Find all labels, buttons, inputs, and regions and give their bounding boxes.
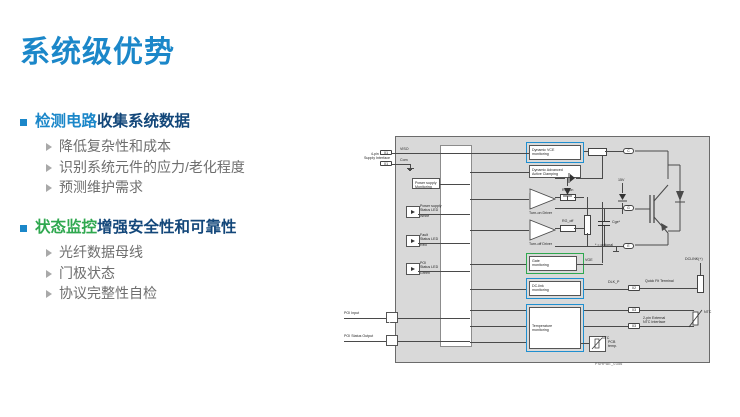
supply-15v-label: 15V [618, 178, 624, 182]
turn-on-driver-label: Turn-on Driver [529, 211, 552, 215]
dlk-p-label: DLK_P [608, 280, 619, 284]
fiber-output-label: POI Status Output [344, 334, 373, 338]
wire-viso [398, 153, 470, 154]
wire [602, 153, 603, 179]
wire [640, 310, 694, 311]
turn-off-driver-label: Turn-off Driver [529, 242, 552, 246]
bullet-heading-2: 状态监控增强安全性和可靠性 [20, 218, 340, 237]
triangle-bullet-icon [46, 143, 52, 151]
list-item: 门极状态 [46, 264, 340, 282]
square-bullet-icon [20, 119, 27, 126]
wire [418, 214, 470, 215]
igbt-symbol-icon [634, 145, 694, 255]
wire [344, 341, 386, 342]
wire [470, 342, 526, 343]
led-fault-label: Fault Status LED [420, 233, 438, 242]
sub-bullet-label: 预测维护需求 [59, 178, 143, 196]
wire [574, 228, 584, 229]
fiber-transmitter-icon [386, 335, 398, 346]
wire [604, 208, 605, 221]
triangle-bullet-icon [46, 249, 52, 257]
wire [470, 172, 529, 173]
wire [567, 178, 568, 186]
wire [587, 197, 588, 215]
resistor-gate-pulldown [584, 215, 591, 235]
terminal-c: C [623, 148, 634, 154]
sub-bullet-label: 协议完整性自检 [59, 284, 157, 302]
wire [470, 326, 526, 327]
ground-icon [613, 251, 619, 252]
wire [567, 196, 568, 200]
wire [470, 289, 526, 290]
wire [470, 310, 526, 311]
rail-label-viso: VISO [400, 147, 409, 151]
wire [440, 184, 470, 185]
led-power-supply-label: Power supply Status LED [420, 204, 442, 213]
square-bullet-icon [20, 225, 27, 232]
bullet-group-2: 状态监控增强安全性和可靠性 光纤数据母线 门极状态 协议完整性自检 [20, 218, 340, 302]
page-title: 系统级优势 [20, 38, 175, 68]
slide-root: 系统级优势 检测电路收集系统数据 降低复杂性和成本 识别系统元件的应力/老化程度… [0, 0, 740, 417]
block-dclink-monitoring: DC-link monitoring [529, 281, 581, 296]
sub-bullet-label: 门极状态 [59, 264, 115, 282]
sub-bullet-label: 光纤数据母线 [59, 243, 143, 261]
led-poi-status-icon [406, 263, 420, 275]
wire [584, 310, 628, 311]
terminal-g: G [623, 205, 634, 211]
dclink-resistor [697, 275, 704, 293]
turn-on-driver-amp-icon [529, 188, 557, 210]
wire-gate-bus [555, 208, 628, 209]
rg-off-label: RG_off [562, 219, 573, 223]
bullet-heading-1-part-a: 检测电路 [35, 113, 97, 130]
triangle-bullet-icon [46, 290, 52, 298]
bullet-heading-1: 检测电路收集系统数据 [20, 112, 340, 131]
connector-x2: X2 [628, 285, 640, 291]
turn-off-driver-amp-icon [529, 219, 557, 241]
bullet-column: 检测电路收集系统数据 降低复杂性和成本 识别系统元件的应力/老化程度 预测维护需… [20, 112, 340, 316]
wire [470, 230, 529, 231]
bullet-heading-2-part-b: 增强安全性和可靠性 [97, 219, 237, 236]
wire [470, 153, 529, 154]
gate-driver-block-diagram: 4-pin Power Supply Interface X1 X1 VISO … [340, 130, 740, 370]
resistor-vce [588, 148, 607, 156]
block-temperature-monitoring: Temperature monitoring [529, 307, 581, 349]
wire [555, 228, 560, 229]
block-gate-monitoring: Gate monitoring [529, 256, 577, 271]
block-power-supply-monitoring: Power supply Monitoring [412, 178, 440, 189]
vge-label: VGE [585, 258, 593, 262]
connector-x1-top: X1 [380, 150, 392, 155]
wire [581, 343, 589, 344]
diagram-watermark: PSHPAE_0356 [595, 362, 623, 366]
wire [398, 318, 470, 319]
wire-emitter-bus [555, 246, 628, 247]
list-item: 协议完整性自检 [46, 284, 340, 302]
ntc-interface-label: 2-pin External NTC Interface [643, 316, 665, 325]
sub-bullet-label: 降低复杂性和成本 [59, 137, 171, 155]
pcb-temp-label: PCB temp. [608, 340, 617, 349]
triangle-bullet-icon [46, 164, 52, 172]
led-poi-label: POI Status LED [420, 261, 438, 270]
wire [470, 264, 526, 265]
fiber-input-label: POI Input [344, 311, 359, 315]
wire [555, 197, 560, 198]
wire [640, 288, 702, 289]
wire [398, 341, 470, 342]
wire [470, 199, 529, 200]
sub-bullet-label: 识别系统元件的应力/老化程度 [59, 158, 245, 176]
led-fault-status-icon [406, 235, 420, 247]
resistor-rg-off [560, 225, 576, 232]
ground-icon [409, 170, 411, 171]
wire [584, 151, 588, 152]
triangle-bullet-icon [46, 184, 52, 192]
wire [584, 326, 628, 327]
triangle-bullet-icon [46, 270, 52, 278]
wire-dclink [584, 289, 628, 290]
bullet-heading-1-part-b: 收集系统数据 [97, 113, 190, 130]
wire [418, 243, 470, 244]
list-item: 光纤数据母线 [46, 243, 340, 261]
cge-label: Cge* [612, 220, 620, 224]
wire [555, 178, 565, 179]
bullet-heading-2-part-a: 状态监控 [35, 219, 97, 236]
bullet-group-1: 检测电路收集系统数据 降低复杂性和成本 识别系统元件的应力/老化程度 预测维护需… [20, 112, 340, 196]
connector-x3-top: X3 [628, 307, 640, 313]
block-dynamic-vce-monitoring: Dynamic VCE monitoring [529, 145, 581, 160]
wire [700, 263, 701, 275]
list-item: 降低复杂性和成本 [46, 137, 340, 155]
wire [418, 271, 470, 272]
wire [344, 318, 386, 319]
capacitor-plate-icon [598, 221, 610, 222]
wire [640, 326, 694, 327]
wire-com [398, 164, 410, 165]
wire-vge [577, 264, 603, 265]
quick-fit-terminal-label: Quick Fit Terminal [645, 279, 674, 283]
connector-x1-bottom: X1 [380, 161, 392, 166]
amp-triangle-icon [389, 313, 397, 323]
wire [576, 178, 602, 179]
wire [587, 233, 588, 247]
ntc-label: NTC [704, 310, 711, 314]
wire [574, 197, 584, 198]
list-item: 识别系统元件的应力/老化程度 [46, 158, 340, 176]
led-power-supply-status-icon [406, 206, 420, 218]
list-item: 预测维护需求 [46, 178, 340, 196]
connector-x3-bottom: X3 [628, 323, 640, 329]
dclink-plus-label: DCLINK(+) [685, 257, 703, 261]
rail-label-com: Com [400, 158, 408, 162]
terminal-e: E [623, 243, 634, 249]
